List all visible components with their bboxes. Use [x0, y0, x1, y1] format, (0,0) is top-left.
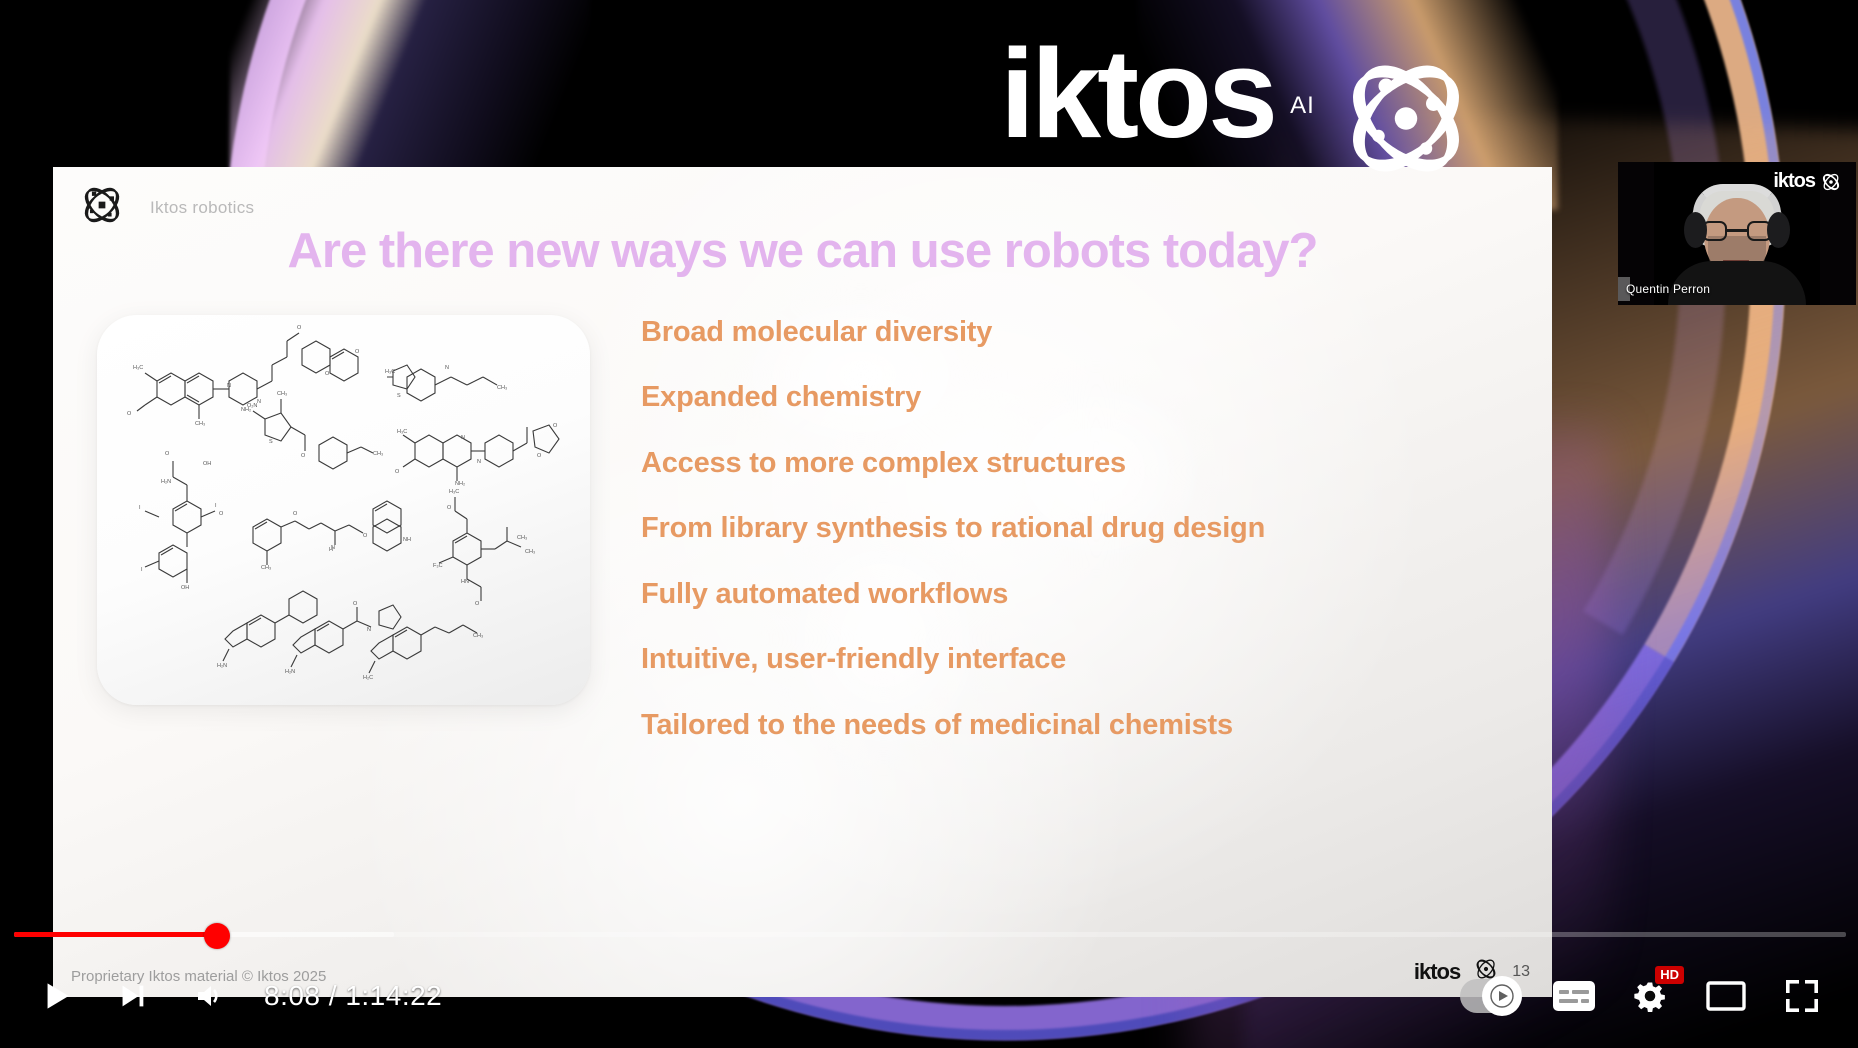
- video-player-stage: iktos AI: [0, 0, 1858, 1048]
- svg-text:NH: NH: [403, 537, 411, 543]
- svg-text:O: O: [219, 511, 224, 517]
- participant-name: Quentin Perron: [1626, 282, 1710, 296]
- svg-text:O: O: [297, 325, 302, 331]
- headphone-earcup-right: [1767, 212, 1790, 248]
- svg-text:O: O: [447, 505, 452, 511]
- brand-wordmark: iktos: [1000, 36, 1274, 152]
- svg-text:N: N: [257, 399, 261, 405]
- play-icon: [37, 977, 75, 1015]
- bullet-list: Broad molecular diversity Expanded chemi…: [641, 317, 1522, 775]
- video-progress-bar[interactable]: [0, 930, 1858, 938]
- svg-text:O: O: [395, 469, 400, 475]
- svg-text:N: N: [461, 435, 465, 441]
- list-item: Intuitive, user-friendly interface: [641, 644, 1522, 674]
- hd-quality-badge: HD: [1655, 966, 1684, 984]
- svg-text:CH₃: CH₃: [195, 421, 205, 427]
- svg-text:S: S: [397, 393, 401, 399]
- svg-text:CH₃: CH₃: [517, 535, 527, 541]
- svg-text:O: O: [127, 411, 132, 417]
- subtitles-icon: [1552, 980, 1596, 1012]
- svg-text:I: I: [141, 567, 143, 573]
- headphone-band: [1693, 184, 1781, 214]
- svg-text:CH₃: CH₃: [525, 549, 535, 555]
- autoplay-knob: [1482, 976, 1522, 1016]
- svg-text:O: O: [293, 511, 298, 517]
- glasses-bridge: [1727, 229, 1747, 232]
- player-controls-left: 8:08 / 1:14:22: [18, 958, 452, 1034]
- svg-text:N: N: [477, 459, 481, 465]
- svg-text:O: O: [353, 601, 358, 607]
- svg-text:O: O: [325, 371, 330, 377]
- svg-text:N: N: [445, 365, 449, 371]
- svg-text:OH: OH: [181, 585, 189, 591]
- svg-text:O: O: [355, 349, 360, 355]
- list-item: Tailored to the needs of medicinal chemi…: [641, 710, 1522, 740]
- list-item: Fully automated workflows: [641, 579, 1522, 609]
- svg-text:H₃C: H₃C: [449, 489, 459, 495]
- svg-text:CH₃: CH₃: [497, 385, 507, 391]
- presentation-slide: Iktos robotics Are there new ways we can…: [53, 167, 1552, 997]
- settings-button[interactable]: HD: [1612, 958, 1688, 1034]
- player-controls-right: HD: [1454, 958, 1840, 1034]
- atom-icon: [1331, 56, 1481, 186]
- svg-text:H: H: [329, 547, 333, 553]
- svg-text:I: I: [215, 503, 217, 509]
- fullscreen-button[interactable]: [1764, 958, 1840, 1034]
- svg-text:CH₃: CH₃: [473, 633, 483, 639]
- slide-title: Are there new ways we can use robots tod…: [53, 223, 1552, 279]
- brand-ai-superscript: AI: [1290, 92, 1315, 120]
- progress-played: [14, 932, 217, 937]
- svg-text:F₃C: F₃C: [433, 563, 443, 569]
- svg-text:NH₂: NH₂: [455, 481, 465, 487]
- svg-text:H₃C: H₃C: [385, 369, 395, 375]
- svg-text:HN: HN: [461, 579, 469, 585]
- slide-header-label: Iktos robotics: [150, 198, 254, 218]
- miniplayer-icon: [1705, 979, 1747, 1013]
- svg-text:O: O: [363, 533, 368, 539]
- svg-text:N: N: [367, 627, 371, 633]
- svg-text:I: I: [139, 505, 141, 511]
- play-icon: [1490, 984, 1514, 1008]
- svg-text:O: O: [165, 451, 170, 457]
- svg-text:H₂N: H₂N: [285, 669, 295, 675]
- chemical-structures-panel: H₃COCH₃ NNNH₂ OOO H₃CSNCH₃ O₂NCH₃SOCH₃ H…: [97, 315, 590, 705]
- svg-text:H₃C: H₃C: [133, 365, 143, 371]
- subtitles-button[interactable]: [1536, 958, 1612, 1034]
- headphone-earcup-left: [1684, 212, 1707, 248]
- list-item: Broad molecular diversity: [641, 317, 1522, 347]
- fullscreen-icon: [1782, 976, 1822, 1016]
- miniplayer-button[interactable]: [1688, 958, 1764, 1034]
- participant-video-tile[interactable]: iktos Quentin Perron: [1618, 162, 1856, 305]
- svg-text:CH₃: CH₃: [373, 451, 383, 457]
- next-video-button[interactable]: [94, 958, 170, 1034]
- svg-text:O₂N: O₂N: [247, 403, 257, 409]
- volume-button[interactable]: [170, 958, 246, 1034]
- svg-text:CH₃: CH₃: [261, 565, 271, 571]
- atom-icon: [1820, 171, 1842, 193]
- svg-text:O: O: [301, 453, 306, 459]
- svg-text:S: S: [269, 439, 273, 445]
- svg-text:O: O: [537, 453, 542, 459]
- next-track-icon: [115, 979, 149, 1013]
- molecule-diagrams: H₃COCH₃ NNNH₂ OOO H₃CSNCH₃ O₂NCH₃SOCH₃ H…: [97, 315, 590, 705]
- time-display: 8:08 / 1:14:22: [264, 980, 442, 1012]
- svg-text:N: N: [227, 383, 231, 389]
- autoplay-toggle[interactable]: [1460, 979, 1522, 1013]
- list-item: From library synthesis to rational drug …: [641, 513, 1522, 543]
- svg-text:H₂N: H₂N: [217, 663, 227, 669]
- iktos-ai-brandmark: iktos AI: [1000, 36, 1481, 186]
- svg-text:O: O: [475, 601, 480, 607]
- play-button[interactable]: [18, 958, 94, 1034]
- svg-text:H₂C: H₂C: [363, 675, 373, 681]
- list-item: Access to more complex structures: [641, 448, 1522, 478]
- svg-text:O: O: [553, 423, 558, 429]
- svg-text:CH₃: CH₃: [277, 391, 287, 397]
- player-controls-bar: 8:08 / 1:14:22: [0, 944, 1858, 1048]
- svg-text:H₃C: H₃C: [397, 429, 407, 435]
- svg-text:OH: OH: [203, 461, 211, 467]
- list-item: Expanded chemistry: [641, 382, 1522, 412]
- svg-text:H₂N: H₂N: [161, 479, 171, 485]
- volume-icon: [190, 978, 226, 1014]
